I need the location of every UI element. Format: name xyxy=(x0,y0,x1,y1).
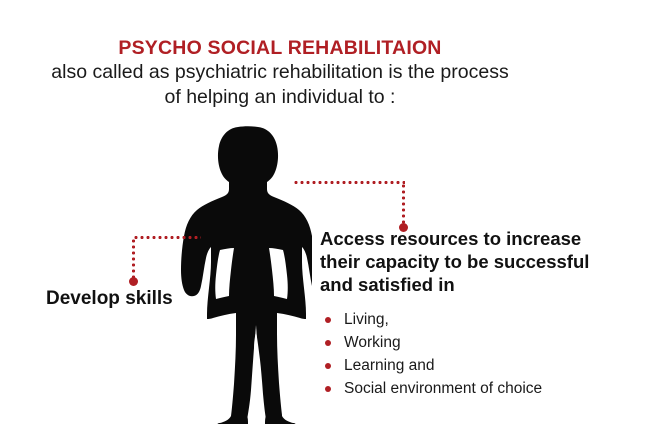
list-item: Working xyxy=(320,331,646,354)
right-callout-heading-line-3: and satisfied in xyxy=(320,273,646,296)
man-silhouette-icon xyxy=(176,120,312,424)
list-item-label: Living, xyxy=(344,311,389,328)
bullet-dot-icon xyxy=(325,386,331,392)
header-block: PSYCHO SOCIAL REHABILITAION also called … xyxy=(0,36,560,110)
page-title: PSYCHO SOCIAL REHABILITAION xyxy=(0,36,560,60)
list-item: Living, xyxy=(320,308,646,331)
left-connector-horizontal-segment xyxy=(133,236,201,239)
infographic-canvas: PSYCHO SOCIAL REHABILITAION also called … xyxy=(0,0,646,439)
right-callout-list: Living, Working Learning and Social envi… xyxy=(320,308,646,400)
list-item: Social environment of choice xyxy=(320,377,646,400)
bullet-dot-icon xyxy=(325,340,331,346)
list-item-label: Working xyxy=(344,334,401,351)
left-connector-end-dot xyxy=(129,277,138,286)
list-item: Learning and xyxy=(320,354,646,377)
right-callout-block: Access resources to increase their capac… xyxy=(320,227,646,400)
header-subtitle-line-2: of helping an individual to : xyxy=(0,85,560,110)
bullet-dot-icon xyxy=(325,317,331,323)
header-subtitle-line-1: also called as psychiatric rehabilitatio… xyxy=(0,60,560,85)
bullet-dot-icon xyxy=(325,363,331,369)
right-callout-heading-line-2: their capacity to be successful xyxy=(320,250,646,273)
develop-skills-label: Develop skills xyxy=(46,288,173,310)
list-item-label: Social environment of choice xyxy=(344,380,542,397)
right-callout-heading-line-1: Access resources to increase xyxy=(320,227,646,250)
list-item-label: Learning and xyxy=(344,357,435,374)
right-connector-horizontal-segment xyxy=(293,181,405,184)
right-connector-vertical-segment xyxy=(402,183,405,227)
left-connector-vertical-segment xyxy=(132,238,135,280)
